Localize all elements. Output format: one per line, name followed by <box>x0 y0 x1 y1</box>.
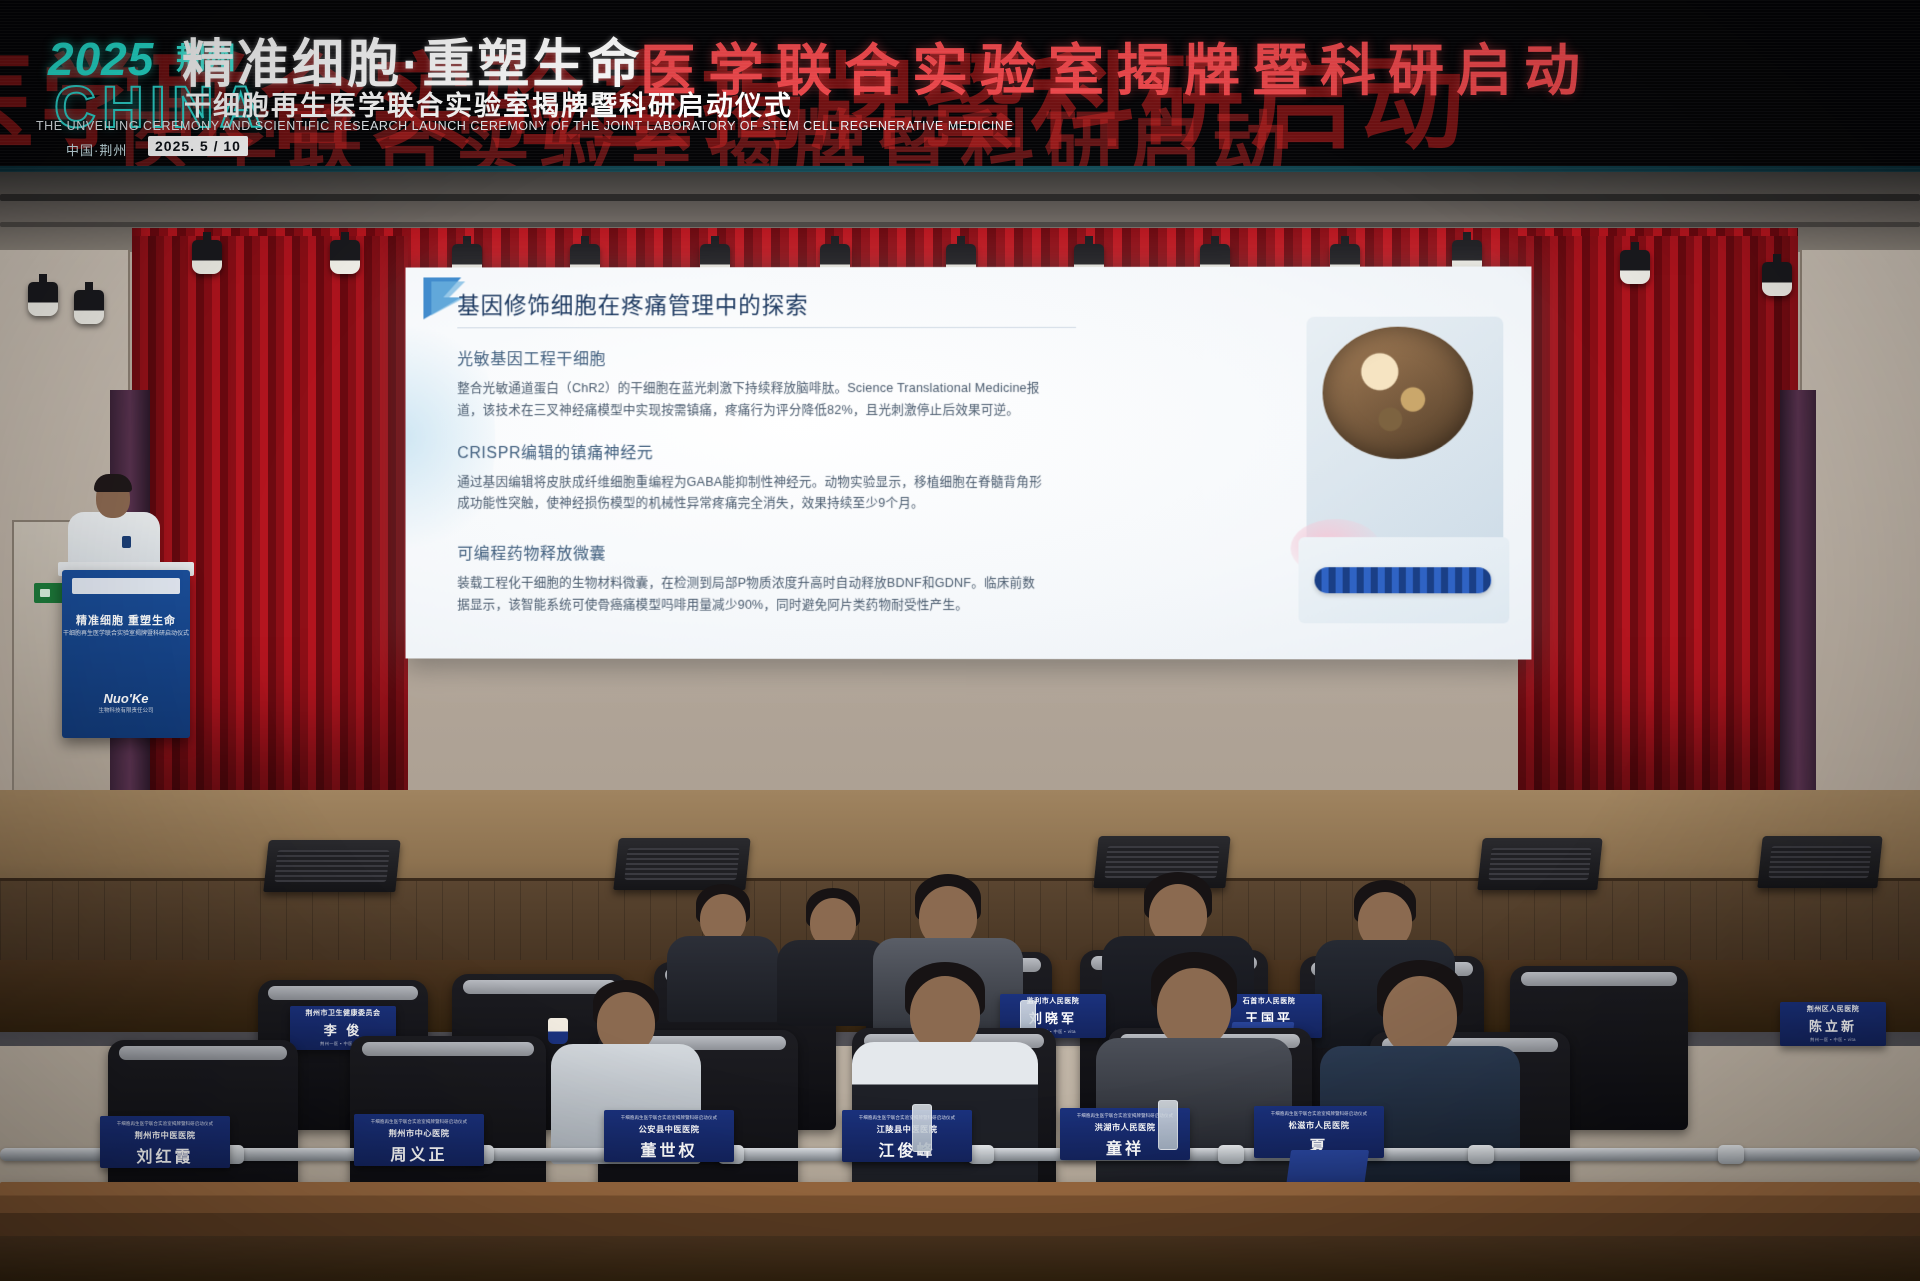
speaker-hair <box>94 474 132 492</box>
podium-logo <box>72 578 180 594</box>
spotlight-icon <box>74 290 104 324</box>
nameplate-org: 荆州市中医医院 <box>100 1129 230 1141</box>
nameplate-name: 刘红霞 <box>100 1143 230 1167</box>
podium-brand-name: Nuo'Ke <box>104 691 149 706</box>
projection-screen: 基因修饰细胞在疼痛管理中的探索 光敏基因工程干细胞 整合光敏通道蛋白（ChR2）… <box>406 266 1532 659</box>
slide-section-body-2: 通过基因编辑将皮肤成纤维细胞重编程为GABA能抑制性神经元。动物实验显示，移植细… <box>457 472 1046 515</box>
nameplate-org: 公安县中医医院 <box>604 1123 734 1135</box>
podium-title-sub: 干细胞再生医学联合实验室揭牌暨科研启动仪式 <box>62 630 190 639</box>
spotlight-icon <box>192 240 222 274</box>
stage-monitor-speaker <box>613 838 750 890</box>
stage-monitor-speaker <box>1757 836 1882 888</box>
conference-hall-photo: 医学联合实验室揭牌暨科研启动 医学联合实验室揭牌暨科研启动 2025 荆州 CH… <box>0 0 1920 1281</box>
slide-image-dna <box>1298 537 1509 623</box>
speaker-badge <box>122 536 131 548</box>
nameplate-name: 江俊峰 <box>842 1137 972 1161</box>
podium-title-line-1: 精准细胞 <box>76 615 124 627</box>
ceiling-beam <box>0 194 1920 201</box>
slide-section-body-3: 装载工程化干细胞的生物材料微囊，在检测到局部P物质浓度升高时自动释放BDNF和G… <box>457 573 1046 617</box>
attendee-head <box>910 976 980 1052</box>
nameplate-name: 周义正 <box>354 1141 484 1165</box>
nameplate-org: 荆州区人民医院 <box>1780 1004 1886 1014</box>
podium-title: 精准细胞 重塑生命 干细胞再生医学联合实验室揭牌暨科研启动仪式 <box>62 614 190 639</box>
slide-title: 基因修饰细胞在疼痛管理中的探索 <box>457 291 1076 329</box>
spotlight-icon <box>1762 262 1792 296</box>
nameplate-org: 荆州市卫生健康委员会 <box>290 1008 396 1018</box>
podium-brand-sub: 生物科技有限责任公司 <box>62 706 190 714</box>
attendee-head <box>1383 976 1457 1056</box>
nameplate-back: 荆州区人民医院 陈立新 荆州一医 ▪ 中医 ▪ vita <box>1780 1002 1886 1046</box>
wall-panel-right <box>1800 250 1920 810</box>
led-banner: 医学联合实验室揭牌暨科研启动 医学联合实验室揭牌暨科研启动 2025 荆州 CH… <box>0 0 1920 172</box>
stage-monitor-speaker <box>1477 838 1602 890</box>
nameplate-footer: 荆州一医 ▪ 中医 ▪ vita <box>1780 1037 1886 1043</box>
podium: 精准细胞 重塑生命 干细胞再生医学联合实验室揭牌暨科研启动仪式 Nuo'Ke 生… <box>62 570 190 738</box>
nameplate-org: 荆州市中心医院 <box>354 1127 484 1139</box>
spotlight-icon <box>330 240 360 274</box>
nameplate-org: 江陵县中医医院 <box>842 1123 972 1135</box>
slide-content: 基因修饰细胞在疼痛管理中的探索 光敏基因工程干细胞 整合光敏通道蛋白（ChR2）… <box>457 291 1096 616</box>
ceiling-beam <box>0 222 1920 227</box>
spotlight-icon <box>28 282 58 316</box>
water-bottle <box>912 1104 932 1152</box>
nameplate-header: 干细胞再生医学联合实验室揭牌暨科研启动仪式 <box>604 1115 734 1121</box>
slide-spacer <box>457 515 1096 523</box>
podium-title-line-2: 重塑生命 <box>128 615 176 627</box>
logo-location: 中国·荆州 <box>66 140 127 159</box>
nameplate-header: 干细胞再生医学联合实验室揭牌暨科研启动仪式 <box>100 1121 230 1127</box>
water-bottle <box>1158 1100 1178 1150</box>
table-row-front <box>0 1182 1920 1238</box>
attendee-head <box>1157 968 1231 1048</box>
rail-joint <box>1218 1145 1244 1164</box>
stage-curtain-right <box>1518 236 1798 796</box>
slide-section-heading-1: 光敏基因工程干细胞 <box>457 345 1096 369</box>
podium-brand: Nuo'Ke 生物科技有限责任公司 <box>62 691 190 714</box>
slide-section-heading-2: CRISPR编辑的镇痛神经元 <box>457 439 1096 463</box>
nameplate: 干细胞再生医学联合实验室揭牌暨科研启动仪式 江陵县中医医院 江俊峰 荆州一医 ▪… <box>842 1110 972 1162</box>
side-drape-right <box>1780 390 1816 790</box>
table-row-front-skirt <box>0 1236 1920 1281</box>
nameplate-header: 干细胞再生医学联合实验室揭牌暨科研启动仪式 <box>1254 1111 1384 1117</box>
nameplate-header: 干细胞再生医学联合实验室揭牌暨科研启动仪式 <box>842 1115 972 1121</box>
slide-section-body-1: 整合光敏通道蛋白（ChR2）的干细胞在蓝光刺激下持续释放脑啡肽。Science … <box>457 378 1046 421</box>
nameplate-org: 松滋市人民医院 <box>1254 1119 1384 1131</box>
nameplate: 干细胞再生医学联合实验室揭牌暨科研启动仪式 荆州市中医医院 刘红霞 荆州一医 ▪… <box>100 1116 230 1168</box>
banner-subtitle-en: THE UNVEILING CEREMONY AND SCIENTIFIC RE… <box>36 119 1013 133</box>
logo-date: 2025. 5 / 10 <box>148 136 248 156</box>
banner-subtitle-cn: 干细胞再生医学联合实验室揭牌暨科研启动仪式 <box>184 84 793 123</box>
nameplate-name: 董世权 <box>604 1137 734 1161</box>
nameplate: 干细胞再生医学联合实验室揭牌暨科研启动仪式 荆州市中心医院 周义正 荆州一医 ▪… <box>354 1114 484 1166</box>
spotlight-icon <box>1620 250 1650 284</box>
rail-joint <box>1718 1145 1744 1164</box>
nameplate-header: 干细胞再生医学联合实验室揭牌暨科研启动仪式 <box>354 1119 484 1125</box>
nameplate: 干细胞再生医学联合实验室揭牌暨科研启动仪式 公安县中医医院 董世权 荆州一医 ▪… <box>604 1110 734 1162</box>
slide-section-heading-3: 可编程药物释放微囊 <box>457 540 1096 564</box>
slide-image-cells <box>1307 317 1504 548</box>
nameplate-name: 陈立新 <box>1780 1016 1886 1035</box>
stage-monitor-speaker <box>263 840 400 892</box>
rail-joint <box>1468 1145 1494 1164</box>
